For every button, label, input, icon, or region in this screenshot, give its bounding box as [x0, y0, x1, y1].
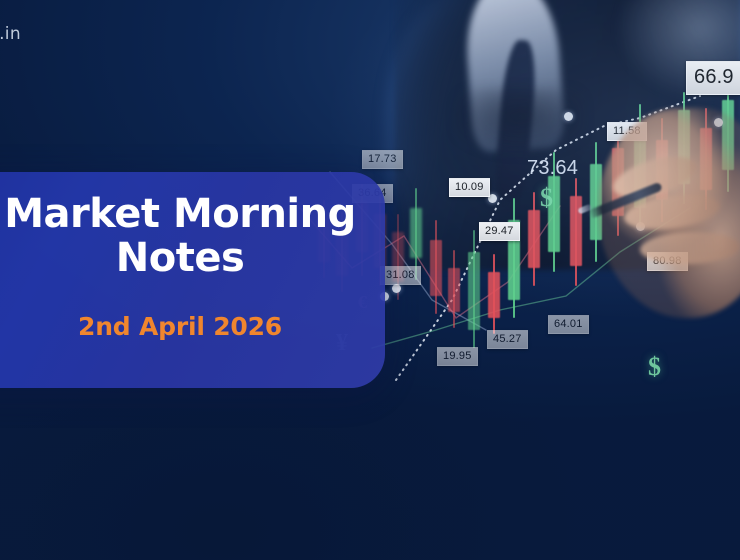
- site-watermark: oo.in: [0, 24, 21, 44]
- price-tag: 10.09: [449, 178, 490, 197]
- candle-body: [430, 240, 442, 296]
- price-tag: 45.27: [487, 330, 528, 349]
- price-tag: 73.64: [520, 153, 585, 185]
- banner-image: $$¥€ 66.911.5873.6410.0929.4780.9831.086…: [0, 0, 740, 560]
- price-tag: 64.01: [548, 315, 589, 334]
- currency-symbol-dollar-icon: $: [648, 352, 661, 382]
- currency-symbol-dollar-icon: $: [540, 183, 553, 213]
- price-tag: 17.73: [362, 150, 403, 169]
- chart-point-marker: [392, 284, 401, 293]
- chart-point-marker: [564, 112, 573, 121]
- candle-body: [448, 268, 460, 312]
- price-tag: 29.47: [479, 222, 520, 241]
- candle-body: [488, 272, 500, 318]
- candle-body: [528, 210, 540, 268]
- page-title: Market Morning Notes: [0, 192, 386, 280]
- candle-body: [410, 208, 422, 258]
- price-tag: 66.9: [686, 61, 740, 95]
- candle-body: [468, 252, 480, 330]
- page-date: 2nd April 2026: [0, 312, 386, 341]
- title-panel-content: Market Morning Notes 2nd April 2026: [0, 172, 386, 388]
- price-tag: 19.95: [437, 347, 478, 366]
- price-tag: 31.08: [380, 266, 421, 285]
